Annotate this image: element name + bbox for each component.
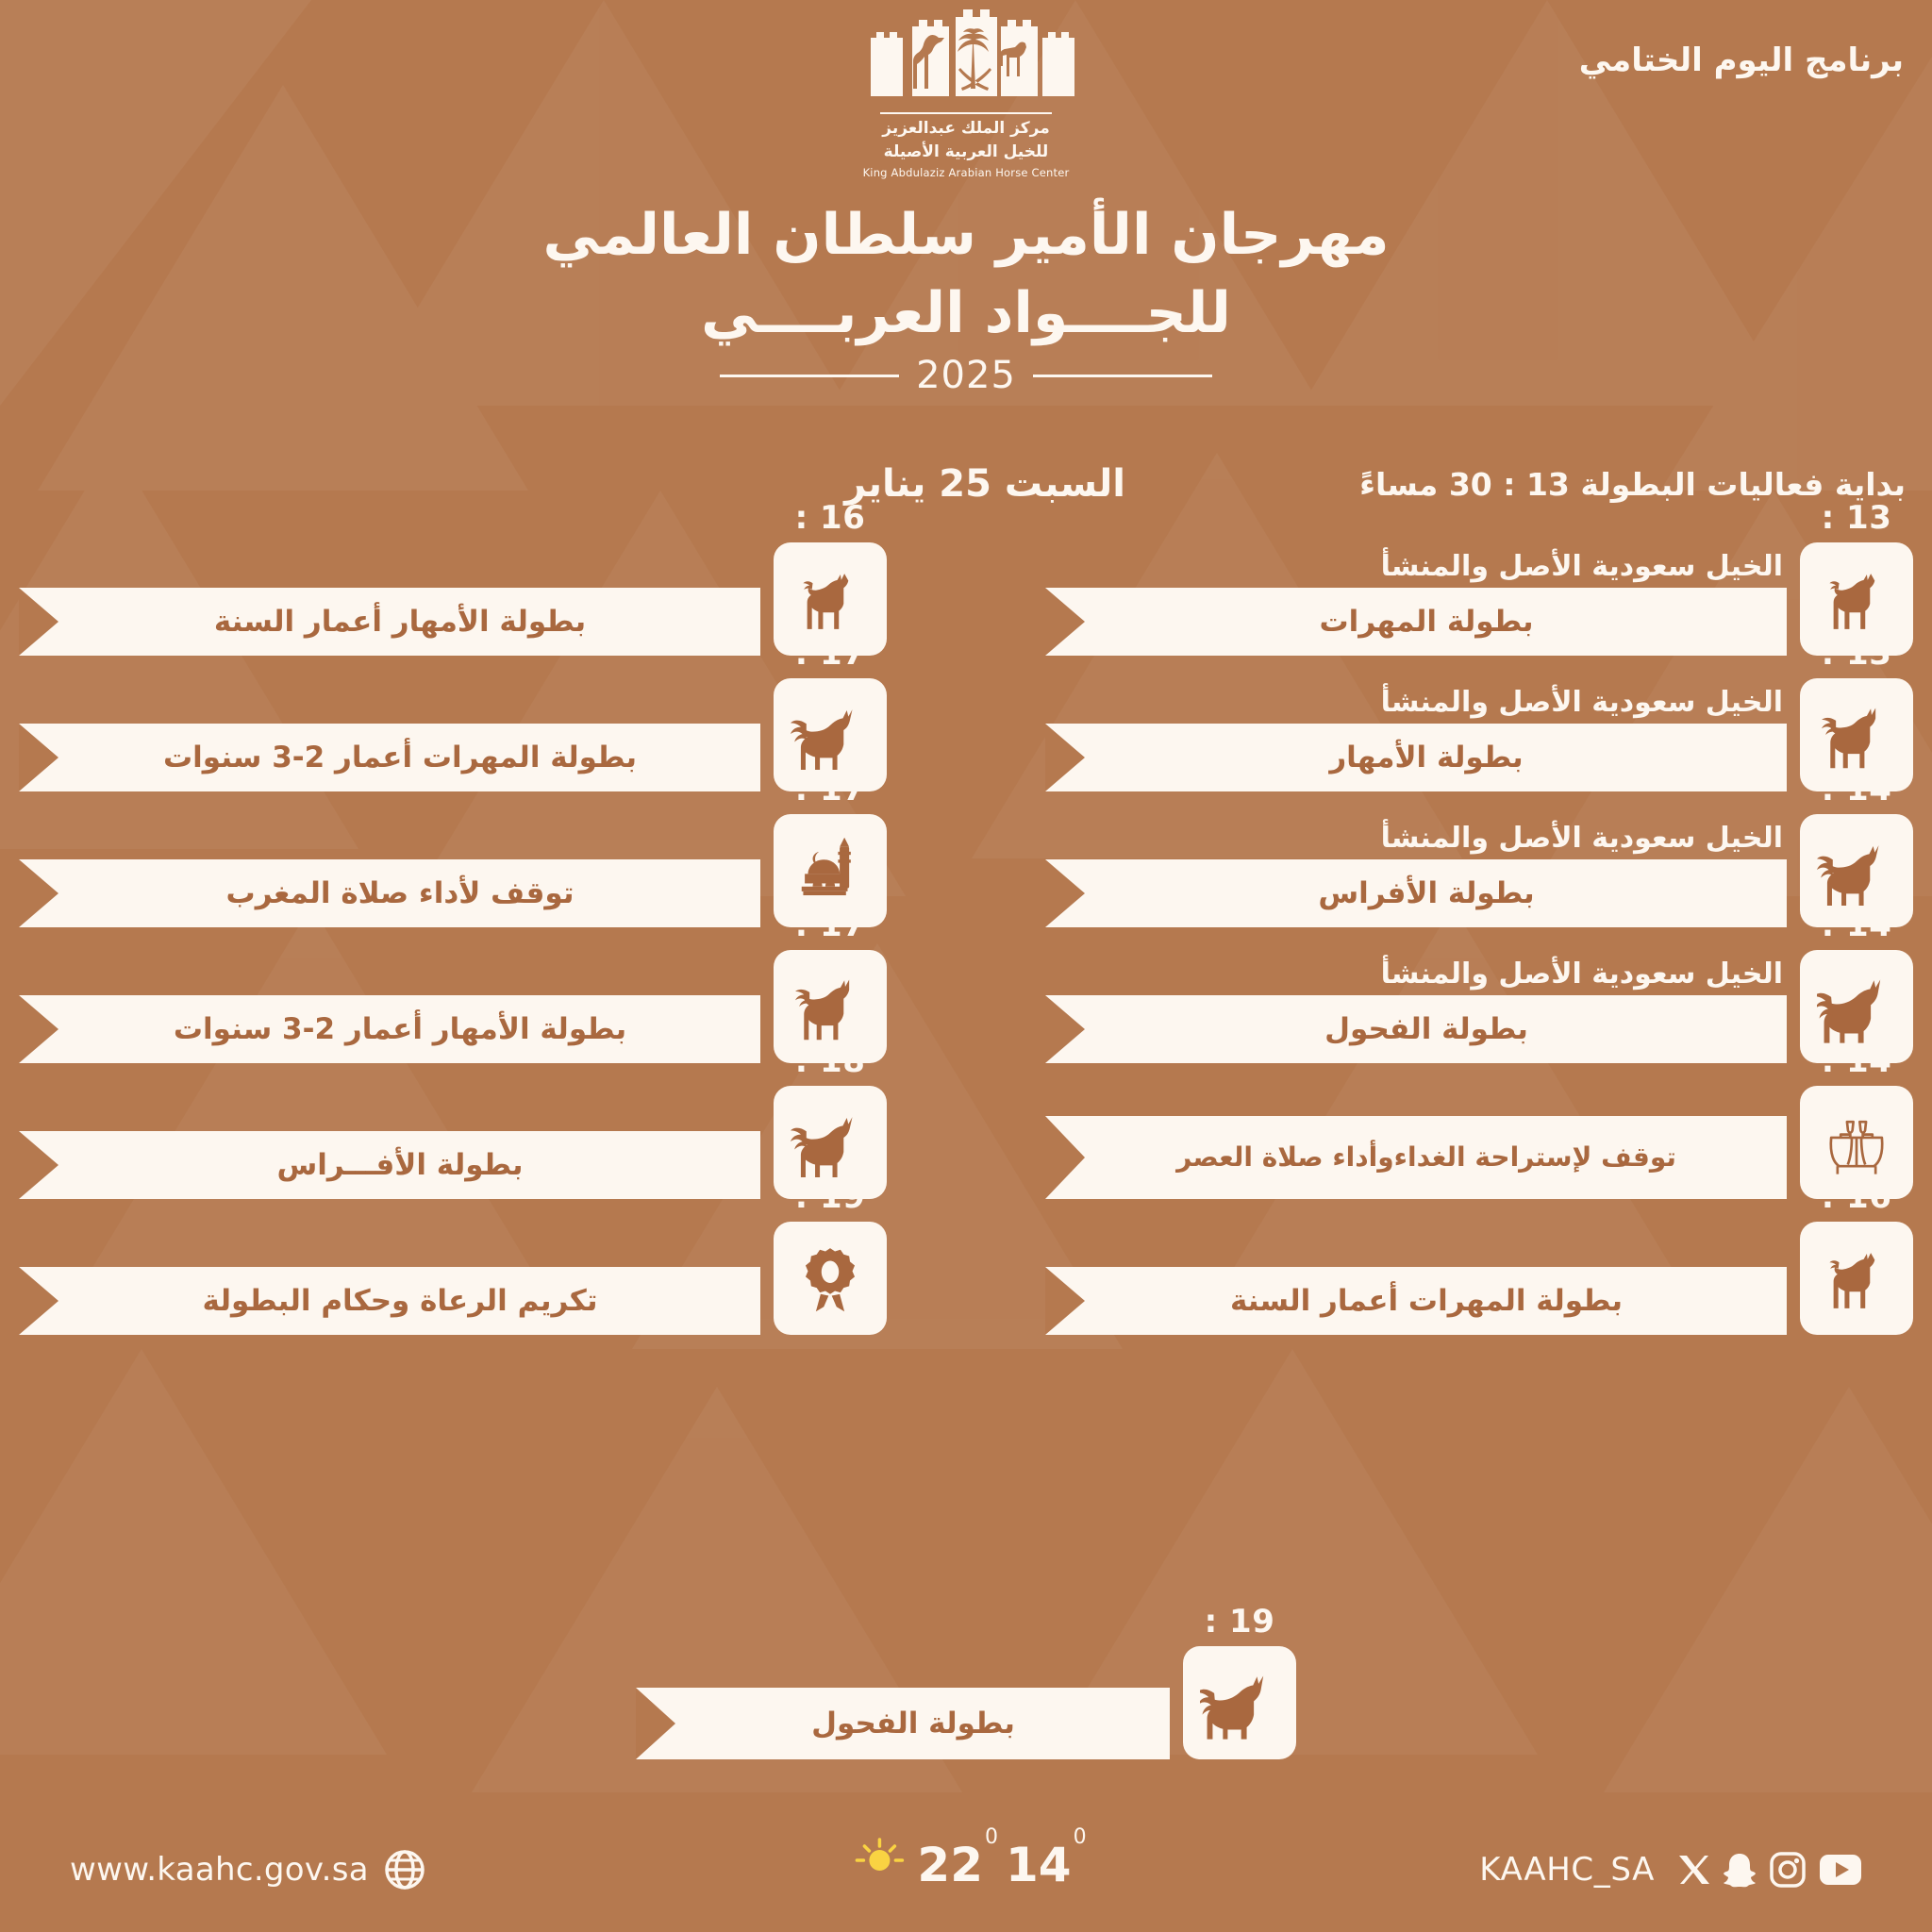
schedule-column-left: 16 : 30بطولة الأمهار أعمار السنة17 : 00ب… — [19, 542, 887, 1357]
year-rule-right — [1033, 375, 1212, 377]
row-label-banner[interactable]: بطولة الأفـــراس — [19, 1131, 760, 1199]
row-label-banner[interactable]: بطولة الأمهار — [1045, 724, 1787, 791]
year-row: 2025 — [0, 354, 1932, 397]
row-time: 17 : 00 — [774, 635, 887, 710]
schedule-row: 18 : 30بطولة الأفـــراس — [19, 1086, 887, 1199]
row-banner-column: توقف لأداء صلاة المغرب — [19, 859, 760, 927]
row-banner-column: الخيل سعودية الأصل والمنشأبطولة الأفراس — [1045, 823, 1787, 927]
row-banner-column: تكريم الرعاة وحكام البطولة — [19, 1267, 760, 1335]
row-subtitle: الخيل سعودية الأصل والمنشأ — [1045, 687, 1783, 718]
festival-title: مهرجان الأمير سلطان العالمي للجــــواد ا… — [0, 203, 1932, 397]
row-label-line: توقف لإستراحة الغداء — [1394, 1142, 1676, 1172]
temp-high-degree: 0 — [985, 1825, 998, 1849]
website-url: www.kaahc.gov.sa — [70, 1851, 369, 1889]
row-label-banner[interactable]: بطولة الفحول — [636, 1688, 1170, 1759]
row-banner-column: الخيل سعودية الأصل والمنشأبطولة الأمهار — [1045, 687, 1787, 791]
snapchat-icon[interactable] — [1723, 1852, 1757, 1888]
row-label-banner[interactable]: بطولة الأمهار أعمار 2-3 سنوات — [19, 995, 760, 1063]
temp-high: 220 — [917, 1838, 996, 1892]
logo-name-en: King Abdulaziz Arabian Horse Center — [843, 166, 1089, 179]
row-time: 18 : 30 — [774, 1042, 887, 1118]
year-rule-left — [720, 375, 899, 377]
logo-name-ar-1: مركز الملك عبدالعزيز — [843, 119, 1089, 139]
row-label-banner[interactable]: توقف لأداء صلاة المغرب — [19, 859, 760, 927]
social-links[interactable]: KAAHC_SA — [1479, 1851, 1862, 1889]
globe-icon — [384, 1849, 425, 1890]
row-inner: بطولة الأفـــراس — [19, 1086, 887, 1199]
row-label-banner[interactable]: بطولة المهرات أعمار 2-3 سنوات — [19, 724, 760, 791]
schedule-row: 16 : 30بطولة الأمهار أعمار السنة — [19, 542, 887, 656]
schedule-row: 14 : 30الخيل سعودية الأصل والمنشأبطولة ا… — [1045, 950, 1913, 1063]
center-logo: مركز الملك عبدالعزيز للخيل العربية الأصي… — [843, 9, 1089, 179]
row-label-banner[interactable]: تكريم الرعاة وحكام البطولة — [19, 1267, 760, 1335]
row-subtitle: الخيل سعودية الأصل والمنشأ — [1045, 551, 1783, 582]
schedule-row: 14 : 10الخيل سعودية الأصل والمنشأبطولة ا… — [1045, 814, 1913, 927]
row-inner: بطولة الأمهار أعمار السنة — [19, 542, 887, 656]
row-inner: الخيل سعودية الأصل والمنشأبطولة الأفراس — [1045, 814, 1913, 927]
row-inner: بطولة المهرات أعمار السنة — [1045, 1222, 1913, 1335]
row-banner-column: بطولة الأمهار أعمار 2-3 سنوات — [19, 995, 760, 1063]
row-time: 19 : 30 — [1183, 1603, 1296, 1678]
row-subtitle: الخيل سعودية الأصل والمنشأ — [1045, 823, 1783, 854]
row-label-banner[interactable]: توقف لإستراحة الغداءوأداء صلاة العصر — [1045, 1116, 1787, 1199]
row-inner: توقف لإستراحة الغداءوأداء صلاة العصر — [1045, 1086, 1913, 1199]
row-inner: تكريم الرعاة وحكام البطولة — [19, 1222, 887, 1335]
row-banner-column: بطولة المهرات أعمار 2-3 سنوات — [19, 724, 760, 791]
row-time: 16 : 00 — [1800, 1178, 1913, 1254]
row-banner-column: الخيل سعودية الأصل والمنشأبطولة المهرات — [1045, 551, 1787, 656]
website-link[interactable]: www.kaahc.gov.sa — [70, 1849, 425, 1890]
schedule-row: 14 : 50توقف لإستراحة الغداءوأداء صلاة ال… — [1045, 1086, 1913, 1199]
row-time: 16 : 30 — [774, 499, 887, 575]
logo-mark-icon — [858, 9, 1074, 104]
weather-widget: 140 220 — [847, 1832, 1084, 1892]
schedule-column-right: 13 : 30الخيل سعودية الأصل والمنشأبطولة ا… — [1045, 542, 1913, 1357]
title-line-2: للجــــواد العربــــي — [0, 281, 1932, 346]
row-banner-column: توقف لإستراحة الغداءوأداء صلاة العصر — [1045, 1116, 1787, 1199]
schedule-row: 17 : 30توقف لأداء صلاة المغرب — [19, 814, 887, 927]
title-line-1: مهرجان الأمير سلطان العالمي — [0, 203, 1932, 268]
row-label-banner[interactable]: بطولة المهرات أعمار السنة — [1045, 1267, 1787, 1335]
program-label: برنامج اليوم الختامي — [1579, 42, 1904, 79]
schedule-row: 13 : 50الخيل سعودية الأصل والمنشأبطولة ا… — [1045, 678, 1913, 791]
row-banner-column: بطولة المهرات أعمار السنة — [1045, 1267, 1787, 1335]
temp-high-value: 22 — [917, 1838, 983, 1892]
row-inner: الخيل سعودية الأصل والمنشأبطولة الأمهار — [1045, 678, 1913, 791]
row-label-banner[interactable]: بطولة المهرات — [1045, 588, 1787, 656]
page-footer: www.kaahc.gov.sa 140 220 — [0, 1821, 1932, 1906]
social-handle: KAAHC_SA — [1479, 1851, 1655, 1889]
schedule-row: 19 : 30بطولة الفحول — [636, 1646, 1296, 1759]
temp-low: 140 — [1006, 1838, 1085, 1892]
temp-low-value: 14 — [1006, 1838, 1072, 1892]
row-label-banner[interactable]: بطولة الأفراس — [1045, 859, 1787, 927]
row-banner-column: بطولة الفحول — [636, 1688, 1170, 1759]
row-time: 14 : 10 — [1800, 771, 1913, 846]
row-time: 17 : 30 — [774, 771, 887, 846]
tournament-start-note: بداية فعاليات البطولة 13 : 30 مساءً — [1359, 466, 1906, 503]
row-time: 17 : 50 — [774, 907, 887, 982]
row-inner: بطولة الأمهار أعمار 2-3 سنوات — [19, 950, 887, 1063]
schedule-row: 19 : 10تكريم الرعاة وحكام البطولة — [19, 1222, 887, 1335]
temp-low-degree: 0 — [1074, 1825, 1087, 1849]
row-banner-column: الخيل سعودية الأصل والمنشأبطولة الفحول — [1045, 958, 1787, 1063]
schedule-row: 17 : 00بطولة المهرات أعمار 2-3 سنوات — [19, 678, 887, 791]
logo-divider — [880, 112, 1052, 114]
row-subtitle: الخيل سعودية الأصل والمنشأ — [1045, 958, 1783, 990]
row-label-banner[interactable]: بطولة الفحول — [1045, 995, 1787, 1063]
youtube-icon[interactable] — [1819, 1854, 1862, 1886]
row-inner: الخيل سعودية الأصل والمنشأبطولة الفحول — [1045, 950, 1913, 1063]
row-label-line: وأداء صلاة العصر — [1176, 1142, 1394, 1172]
schedule-row: 17 : 50بطولة الأمهار أعمار 2-3 سنوات — [19, 950, 887, 1063]
schedule-row: 16 : 00بطولة المهرات أعمار السنة — [1045, 1222, 1913, 1335]
schedule-row: 13 : 30الخيل سعودية الأصل والمنشأبطولة ا… — [1045, 542, 1913, 656]
row-inner: الخيل سعودية الأصل والمنشأبطولة المهرات — [1045, 542, 1913, 656]
row-time: 13 : 50 — [1800, 635, 1913, 710]
row-time: 13 : 30 — [1800, 499, 1913, 575]
schedule-row-final: 19 : 30بطولة الفحول — [0, 1646, 1932, 1782]
row-time: 14 : 30 — [1800, 907, 1913, 982]
row-banner-column: بطولة الأمهار أعمار السنة — [19, 588, 760, 656]
logo-name-ar-2: للخيل العربية الأصيلة — [843, 142, 1089, 162]
festival-year: 2025 — [916, 354, 1016, 397]
x-twitter-icon[interactable] — [1675, 1853, 1709, 1887]
row-time: 14 : 50 — [1800, 1042, 1913, 1118]
sun-icon — [853, 1832, 906, 1885]
instagram-icon[interactable] — [1770, 1852, 1806, 1888]
row-inner: بطولة المهرات أعمار 2-3 سنوات — [19, 678, 887, 791]
row-time: 19 : 10 — [774, 1178, 887, 1254]
row-inner: توقف لأداء صلاة المغرب — [19, 814, 887, 927]
row-label-banner[interactable]: بطولة الأمهار أعمار السنة — [19, 588, 760, 656]
row-banner-column: بطولة الأفـــراس — [19, 1131, 760, 1199]
